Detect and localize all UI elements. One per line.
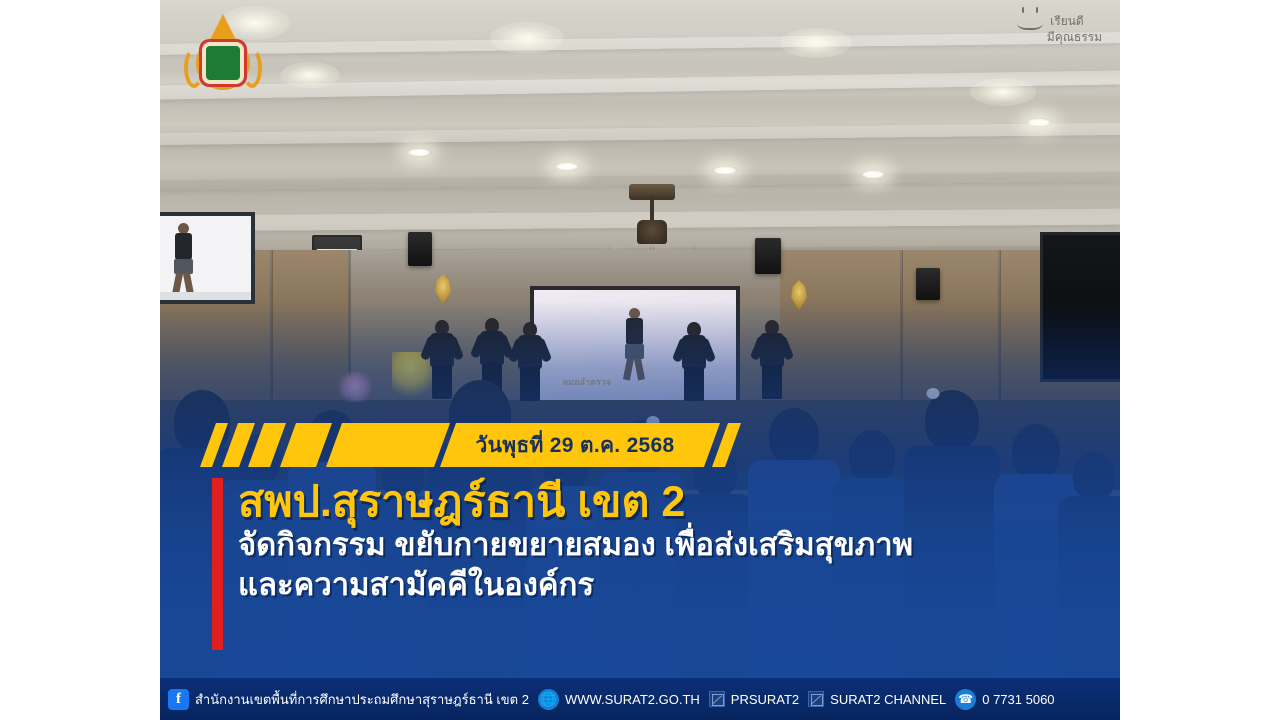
- ceiling-beam: [160, 32, 1120, 55]
- slogan-line-2: มีคุณธรรม: [1017, 30, 1102, 45]
- emblem-core: [206, 46, 240, 80]
- broken-image-icon-2: [808, 691, 824, 707]
- headline-block: สพป.สุราษฎร์ธานี เขต 2 จัดกิจกรรม ขยับกา…: [238, 481, 1118, 605]
- smiley-icon-row: เรียนดี: [1017, 14, 1102, 30]
- ceiling-light-glow: [970, 78, 1036, 106]
- slogan-line-1: เรียนดี: [1050, 14, 1084, 28]
- facebook-icon: f: [168, 689, 189, 710]
- ceiling-speaker: [408, 232, 432, 266]
- footer-item-facebook[interactable]: f สำนักงานเขตพื้นที่การศึกษาประถมศึกษาสุ…: [168, 689, 529, 710]
- downlight: [1026, 118, 1052, 127]
- emblem-arc: [184, 48, 204, 88]
- ceiling-speaker: [755, 238, 781, 274]
- footer-label-channel: SURAT2 CHANNEL: [830, 692, 946, 707]
- footer-label-facebook: สำนักงานเขตพื้นที่การศึกษาประถมศึกษาสุรา…: [195, 689, 529, 710]
- headline-sub-line-2: และความสามัคคีในองค์กร: [238, 565, 1118, 605]
- smiley-icon: [1017, 14, 1043, 30]
- figure-shorts: [174, 259, 193, 274]
- emblem-arc: [242, 48, 262, 88]
- monitor-taskbar: [160, 292, 251, 300]
- downlight: [860, 170, 886, 179]
- footer-item-phone[interactable]: ☎ 0 7731 5060: [955, 689, 1054, 710]
- footer-item-website[interactable]: 🌐 WWW.SURAT2.GO.TH: [538, 689, 700, 710]
- wall-monitor-left: [160, 212, 255, 304]
- date-banner-text: วันพุธที่ 29 ต.ค. 2568: [460, 423, 690, 467]
- ribbon-stripe: [326, 423, 450, 467]
- red-accent-bar: [212, 478, 223, 650]
- downlight: [406, 148, 432, 157]
- headline-sub-line-1: จัดกิจกรรม ขยับกายขยายสมอง เพื่อส่งเสริม…: [238, 525, 1118, 565]
- chandelier-rod: [650, 196, 654, 222]
- footer-label-website: WWW.SURAT2.GO.TH: [565, 692, 700, 707]
- screenshot-canvas: หมอลำตรวจ: [0, 0, 1280, 720]
- figure-torso: [175, 233, 192, 260]
- headline-main: สพป.สุราษฎร์ธานี เขต 2: [238, 481, 1118, 525]
- footer-item-prsurat2[interactable]: PRSURAT2: [709, 691, 799, 707]
- globe-icon: 🌐: [538, 689, 559, 710]
- broken-image-icon: [709, 691, 725, 707]
- monitor-screen: [160, 216, 251, 300]
- footer-item-channel[interactable]: SURAT2 CHANNEL: [808, 691, 946, 707]
- exercise-figure: [172, 223, 192, 285]
- ceiling-light-glow: [780, 28, 852, 58]
- slogan-block: เรียนดี มีคุณธรรม: [1017, 14, 1102, 45]
- downlight: [554, 162, 580, 171]
- footer-bar: f สำนักงานเขตพื้นที่การศึกษาประถมศึกษาสุ…: [160, 678, 1120, 720]
- ceiling-light-glow: [280, 62, 340, 88]
- ceiling-speaker: [916, 268, 940, 300]
- poster-image: หมอลำตรวจ: [160, 0, 1120, 720]
- downlight: [712, 166, 738, 175]
- footer-label-phone: 0 7731 5060: [982, 692, 1054, 707]
- footer-label-prsurat2: PRSURAT2: [731, 692, 799, 707]
- ministry-emblem-icon: [186, 14, 260, 94]
- phone-icon: ☎: [955, 689, 976, 710]
- ceiling-beam: [160, 123, 1120, 145]
- ceiling-light-glow: [490, 22, 564, 54]
